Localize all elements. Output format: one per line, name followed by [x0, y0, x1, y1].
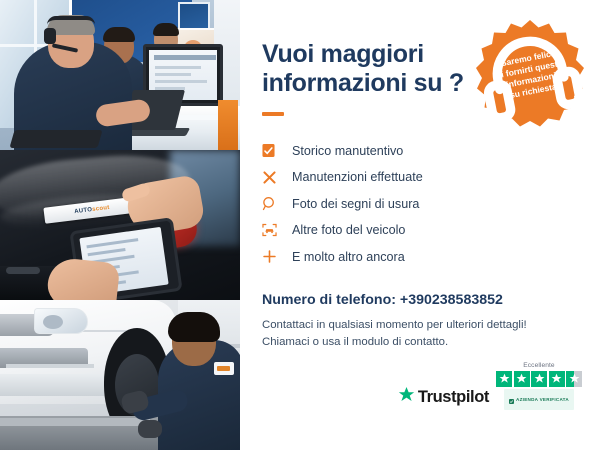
mechanic-glove-lower [138, 420, 162, 438]
feature-label: E molto altro ancora [292, 250, 405, 264]
content-panel: Vuoi maggiori informazioni su ? Saremo f… [240, 0, 600, 450]
orange-equipment [218, 100, 238, 150]
feature-label: Foto dei segni di usura [292, 197, 419, 211]
feature-label: Storico manutentivo [292, 144, 403, 158]
desk-mat [9, 130, 102, 148]
title-divider [262, 112, 284, 116]
verified-check-icon [509, 391, 514, 409]
trustpilot-stars [496, 371, 582, 387]
bumper-trim [6, 364, 94, 368]
badge-content: Saremo felici di fornirti queste informa… [464, 8, 595, 139]
trustpilot-name: Trustpilot [418, 388, 489, 407]
mechanic-hair [168, 312, 220, 342]
sticker-text-primary: AUTO [74, 207, 93, 215]
verified-company-badge: AZIENDA VERIFICATA [504, 389, 574, 410]
vehicle-inspection-tablet-photo: AUTOscout [0, 150, 240, 300]
clipboard-check-icon [262, 143, 292, 158]
trustpilot-logo: Trustpilot [398, 386, 489, 410]
feature-label: Manutenzioni effettuate [292, 170, 423, 184]
headlight [34, 308, 88, 334]
headline-line-2: informazioni su ? [262, 69, 477, 98]
feature-list: Storico manutentivo Manutenzioni effettu… [262, 138, 578, 271]
lift-pad [0, 418, 150, 426]
star-tile-full [514, 371, 530, 387]
availability-badge: Saremo felici di fornirti queste informa… [474, 18, 586, 130]
star-tile-full [531, 371, 547, 387]
magnifier-icon [262, 196, 292, 211]
headset-earcup [44, 28, 56, 44]
trustpilot-score-block: Eccellente [496, 362, 582, 411]
inspector-hand-lower [46, 256, 121, 300]
contact-note: Contattaci in qualsiasi momento per ulte… [262, 317, 578, 350]
screen-text-row [155, 66, 201, 69]
feature-item-more-photos: Altre foto del veicolo [262, 217, 578, 244]
trustpilot-star-icon [398, 386, 415, 408]
photo-column: AUTOscout [0, 0, 240, 450]
car-frame-icon [262, 223, 292, 237]
agent-two-hair [103, 27, 135, 42]
contact-note-line-2: Chiamaci o usa il modulo di contatto. [262, 334, 578, 351]
page-title: Vuoi maggiori informazioni su ? [262, 40, 477, 99]
wrench-cross-icon [262, 170, 292, 185]
star-tile-partial [566, 371, 582, 387]
contact-note-line-1: Contattaci in qualsiasi momento per ulte… [262, 317, 578, 334]
verified-label: AZIENDA VERIFICATA [516, 397, 569, 402]
feature-label: Altre foto del veicolo [292, 223, 405, 237]
tablet-text-row [88, 248, 126, 256]
advertisement-banner: AUTOscout [0, 0, 600, 450]
sticker-text-accent: scout [92, 205, 110, 213]
screen-toolbar [154, 55, 216, 60]
star-tile-full [549, 371, 565, 387]
mechanic-wheel-check-photo [0, 300, 240, 450]
exhaust-pipe [6, 267, 40, 274]
feature-item-maintenance-history: Storico manutentivo [262, 138, 578, 165]
plus-icon [262, 249, 292, 264]
headset-band [47, 16, 95, 25]
feature-item-much-more: E molto altro ancora [262, 244, 578, 271]
uniform-logo-badge [214, 362, 234, 375]
feature-item-wear-photos: Foto dei segni di usura [262, 191, 578, 218]
side-skirt [0, 374, 120, 396]
agent-three-hair [153, 23, 179, 36]
trustpilot-rating-word: Eccellente [523, 362, 554, 369]
call-center-agents-photo [0, 0, 240, 150]
tablet-text-row [86, 238, 138, 248]
headline-line-1: Vuoi maggiori [262, 40, 424, 68]
screen-text-row [155, 73, 191, 76]
feature-item-maintenance-done: Manutenzioni effettuate [262, 164, 578, 191]
star-tile-full [496, 371, 512, 387]
phone-number[interactable]: Numero di telefono: +390238583852 [262, 292, 578, 308]
trustpilot-rating[interactable]: Trustpilot Eccellente [398, 362, 582, 411]
screen-text-row [155, 80, 207, 83]
